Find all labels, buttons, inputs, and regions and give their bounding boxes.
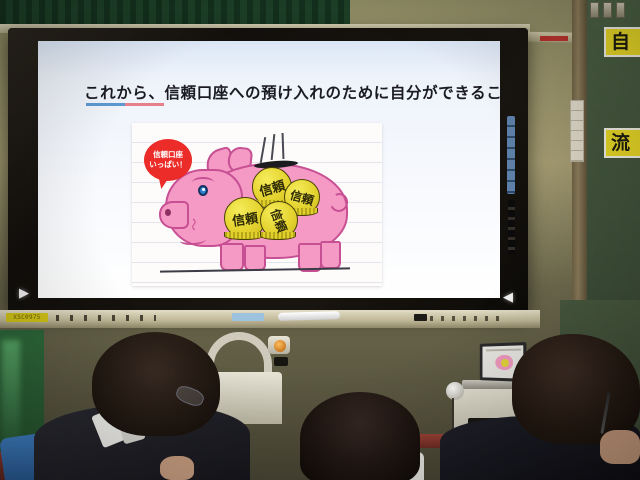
bubble-line-2: いっぱい！ bbox=[149, 160, 187, 170]
pig-eye bbox=[198, 185, 208, 196]
red-indicator bbox=[540, 36, 568, 41]
board-clip bbox=[590, 2, 599, 18]
pig-cheek-mark: 〜 bbox=[185, 218, 200, 234]
pig-leg bbox=[244, 245, 266, 271]
student-left-head bbox=[92, 332, 220, 436]
board-clip bbox=[603, 2, 612, 18]
accent-blue bbox=[86, 103, 125, 106]
coin-label: 信頼 bbox=[231, 207, 259, 229]
curtain bbox=[0, 0, 350, 26]
student-left-hand bbox=[160, 456, 194, 480]
accent-red bbox=[125, 103, 164, 106]
coin-label: 信頼 bbox=[257, 174, 287, 199]
bubble-line-1: 信頼口座 bbox=[153, 150, 183, 160]
whiteboard-pen[interactable] bbox=[278, 311, 340, 321]
classroom-scene: 自 流 これから、信頼口座への預け入れのために自分ができること bbox=[0, 0, 640, 480]
interactive-whiteboard[interactable]: これから、信頼口座への預け入れのために自分ができること bbox=[8, 28, 528, 313]
pen-holder[interactable] bbox=[508, 200, 515, 254]
coin-label: 信頼 bbox=[267, 206, 291, 234]
title-accent-bar bbox=[86, 103, 164, 106]
pig-leg bbox=[220, 243, 244, 271]
tray-blue-marker[interactable] bbox=[232, 313, 264, 321]
pen-tray-strip[interactable] bbox=[507, 116, 515, 194]
tray-eraser[interactable] bbox=[414, 314, 427, 321]
cart-knob bbox=[446, 382, 464, 400]
chalkboard-card: 流 bbox=[604, 128, 640, 158]
laptop-slide-title bbox=[486, 348, 521, 351]
student-center-head bbox=[300, 392, 420, 480]
speech-bubble: 信頼口座 いっぱい！ bbox=[144, 139, 192, 181]
brand-logo: XSC0975 bbox=[6, 313, 48, 322]
trust-coin: 信頼 bbox=[260, 201, 298, 239]
pig-nostril bbox=[165, 209, 171, 216]
whiteboard-screen[interactable]: これから、信頼口座への預け入れのために自分ができること bbox=[38, 41, 500, 298]
slide-next-icon[interactable]: ◀ bbox=[503, 291, 513, 304]
tray-controls[interactable] bbox=[56, 315, 156, 321]
slide-title: これから、信頼口座への預け入れのために自分ができること bbox=[84, 81, 484, 103]
board-clip bbox=[616, 2, 625, 18]
camera-lens-icon bbox=[274, 340, 286, 352]
wall-notice bbox=[570, 100, 584, 162]
laptop-coin-thumbnail bbox=[501, 359, 509, 367]
student-right-head bbox=[512, 334, 640, 444]
chalkboard-card: 自 bbox=[604, 27, 640, 57]
slide-prev-icon[interactable]: ▶ bbox=[19, 287, 29, 300]
coin-label: 信頼 bbox=[288, 186, 316, 209]
document-camera-body bbox=[274, 357, 288, 366]
presentation-slide: これから、信頼口座への預け入れのために自分ができること bbox=[38, 41, 500, 298]
piggy-bank-illustration: 〜 信頼 信頼 信頼 信頼 bbox=[132, 123, 382, 286]
pig-leg bbox=[320, 241, 341, 269]
student-right-hand bbox=[600, 430, 640, 464]
tray-controls-right[interactable] bbox=[430, 316, 506, 321]
